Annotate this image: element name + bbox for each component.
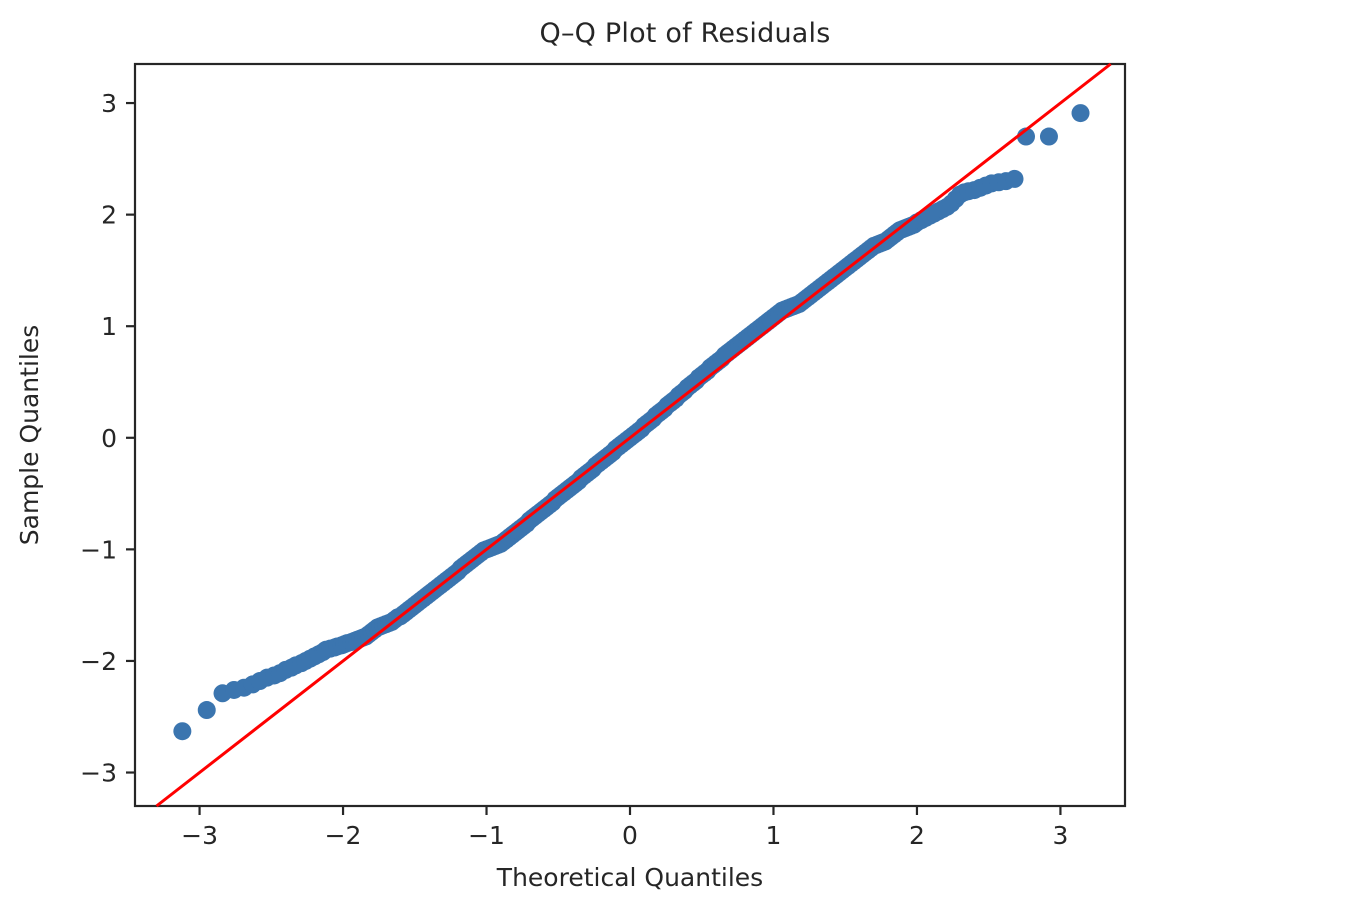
plot-canvas: −3−2−10123 3210−1−2−3 Theoretical Quanti… — [0, 0, 1370, 923]
y-tick-label: −1 — [80, 535, 117, 564]
x-tick-label: 1 — [766, 821, 782, 850]
qq-plot-figure: Q–Q Plot of Residuals −3−2−10123 3210−1−… — [0, 0, 1370, 923]
data-point — [1006, 170, 1024, 188]
x-tick-label: −2 — [325, 821, 362, 850]
y-axis-label: Sample Quantiles — [15, 325, 44, 545]
y-tick-label: −2 — [80, 647, 117, 676]
x-axis-ticks: −3−2−10123 — [181, 806, 1068, 850]
data-point — [173, 722, 191, 740]
data-point — [1072, 104, 1090, 122]
y-tick-label: 3 — [101, 89, 117, 118]
x-tick-label: 2 — [909, 821, 925, 850]
y-axis-ticks: 3210−1−2−3 — [80, 89, 135, 787]
x-tick-label: −1 — [468, 821, 505, 850]
data-point — [1040, 128, 1058, 146]
x-axis-label: Theoretical Quantiles — [496, 863, 763, 892]
x-tick-label: 3 — [1052, 821, 1068, 850]
y-tick-label: 0 — [101, 424, 117, 453]
data-point — [198, 701, 216, 719]
x-tick-label: −3 — [181, 821, 218, 850]
x-tick-label: 0 — [622, 821, 638, 850]
y-tick-label: 2 — [101, 201, 117, 230]
y-tick-label: 1 — [101, 312, 117, 341]
y-tick-label: −3 — [80, 759, 117, 788]
